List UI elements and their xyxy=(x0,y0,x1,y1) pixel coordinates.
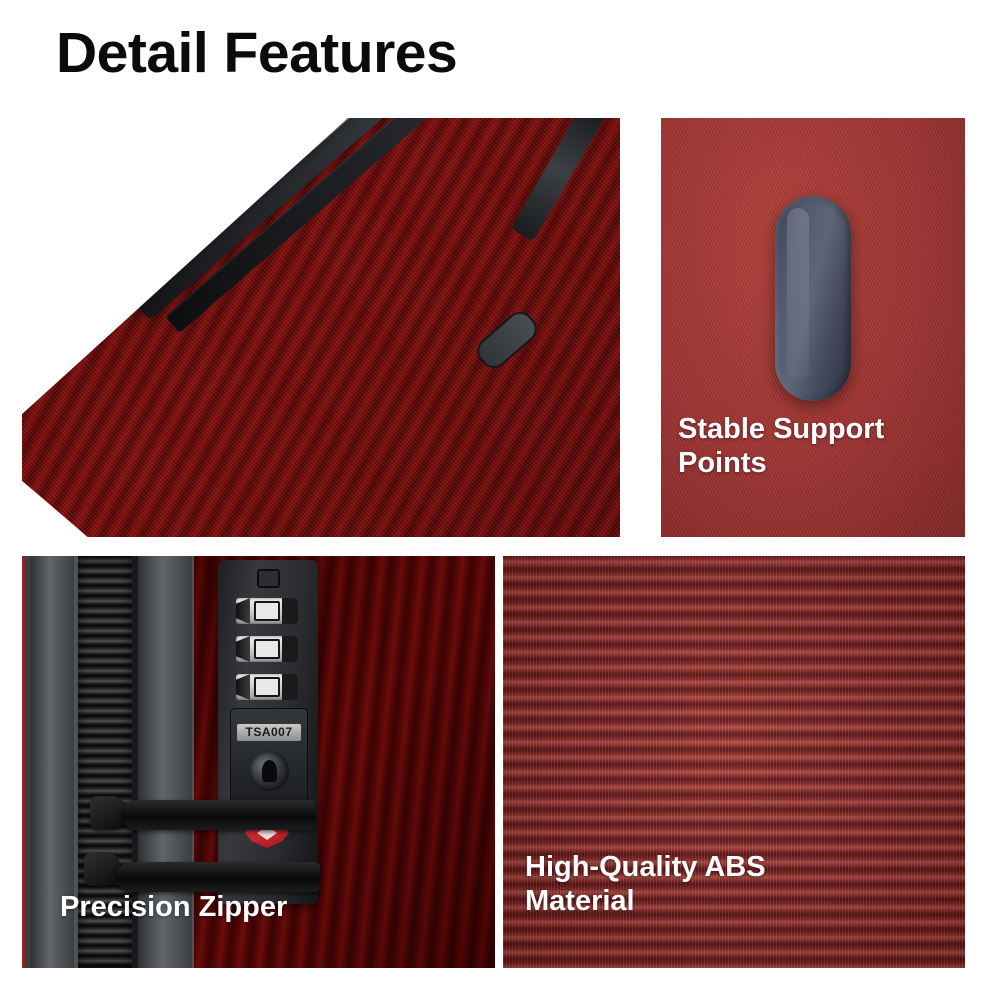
infographic-canvas: Detail Features Soft Rubber Handle Stabl… xyxy=(0,0,1000,1000)
panel-stable-support-points[interactable]: Stable Support Points xyxy=(661,118,965,537)
dial-window-3 xyxy=(254,677,280,697)
zipper-pull-head-lower xyxy=(84,852,120,886)
dial-window-1 xyxy=(254,601,280,621)
zipper-pull-tab-lower xyxy=(116,862,320,892)
combination-dial-3 xyxy=(236,674,298,700)
lock-keyhole-plate: TSA007 xyxy=(230,708,308,808)
zipper-pull-tab-upper xyxy=(122,800,316,830)
tsa-code-label: TSA007 xyxy=(237,724,301,741)
page-title: Detail Features xyxy=(56,22,457,86)
handle-photo xyxy=(22,118,620,537)
panel-precision-zipper[interactable]: TSA007 Precision Zipper xyxy=(22,556,495,968)
lock-reset-button xyxy=(257,569,280,588)
panel-soft-rubber-handle[interactable] xyxy=(22,118,620,537)
dial-window-2 xyxy=(254,639,280,659)
tsa-lock-housing: TSA007 xyxy=(218,560,318,904)
lock-keyhole xyxy=(249,751,289,791)
combination-dial-1 xyxy=(236,598,298,624)
caption-abs-material: High-Quality ABS Material xyxy=(525,850,766,918)
caption-precision-zipper: Precision Zipper xyxy=(60,890,287,924)
caption-stable-support-points: Stable Support Points xyxy=(678,412,884,480)
zipper-pull-head-upper xyxy=(90,796,126,830)
panel-abs-material[interactable]: High-Quality ABS Material xyxy=(503,556,965,968)
rubber-support-foot xyxy=(775,196,851,401)
combination-dial-2 xyxy=(236,636,298,662)
